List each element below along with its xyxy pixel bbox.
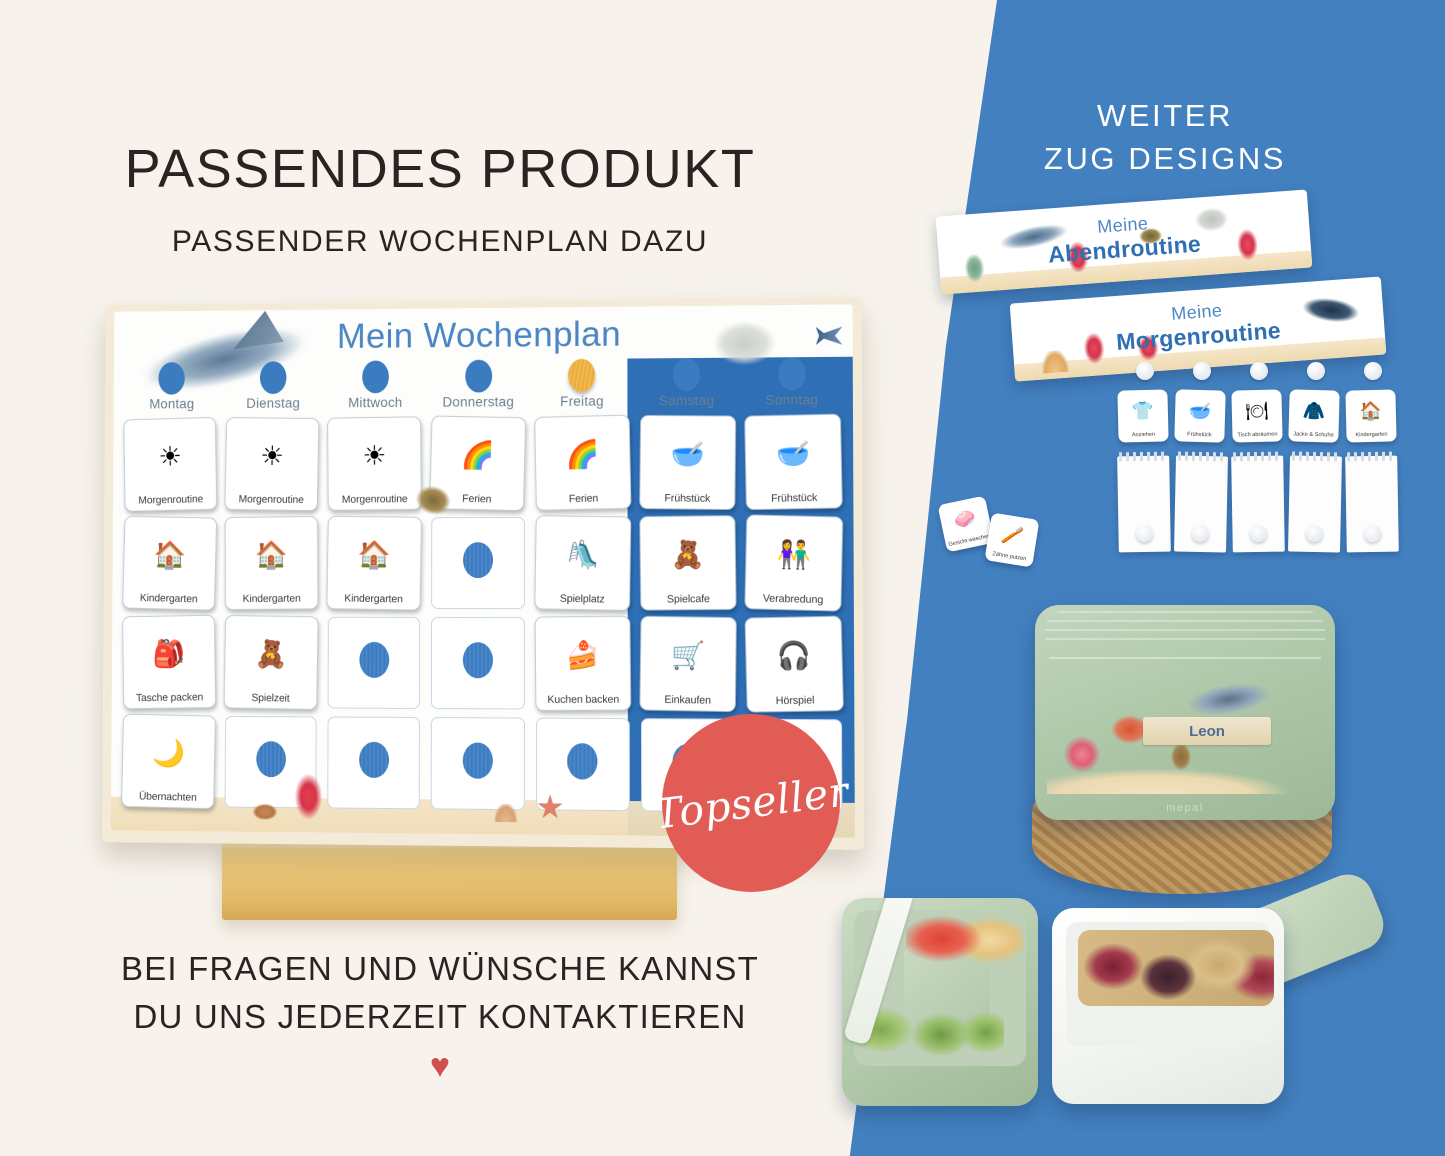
- activity-card[interactable]: 🎧Hörspiel: [744, 616, 844, 713]
- grid-slot[interactable]: 🥣Frühstück: [742, 413, 846, 510]
- day-marker-token[interactable]: [568, 359, 595, 392]
- wooden-stand: [222, 838, 677, 920]
- routine-card-label: Jacke & Schuhe: [1292, 433, 1335, 441]
- day-label: Dienstag: [222, 396, 324, 411]
- activity-card[interactable]: ☀Morgenroutine: [327, 416, 422, 511]
- coral-icon: [1053, 722, 1111, 778]
- playhouse-icon: 🏠: [328, 517, 422, 595]
- grid-slot[interactable]: 🥣Frühstück: [636, 414, 739, 511]
- activity-card[interactable]: 🏠Kindergarten: [225, 516, 319, 610]
- routine-card-label: Kindergarten: [1354, 433, 1388, 440]
- activity-card[interactable]: 🧸Spielzeit: [224, 615, 319, 710]
- activity-card-label: Morgenroutine: [136, 494, 205, 507]
- grid-slot[interactable]: 🌈Ferien: [532, 414, 634, 510]
- spiral-binding: [1347, 452, 1395, 462]
- activity-card[interactable]: 👫Verabredung: [744, 514, 843, 611]
- sun-clothes-icon: ☀: [226, 418, 319, 495]
- day-column-montag: Montag: [121, 362, 222, 414]
- cereal-bowl-icon: 🥣: [640, 416, 735, 494]
- activity-card[interactable]: 🛝Spielplatz: [534, 515, 631, 611]
- lunchbox-brand: mepal: [1035, 802, 1335, 814]
- topseller-label: Topseller: [651, 767, 850, 838]
- activity-card-label: Morgenroutine: [237, 494, 306, 507]
- routine-card-label: Anziehen: [1131, 433, 1156, 440]
- grid-slot[interactable]: 🎒Tasche packen: [119, 614, 218, 709]
- cereal-icon: 🥣: [1188, 390, 1212, 434]
- grid-slot[interactable]: 🏠Kindergarten: [222, 515, 322, 610]
- playhouse-icon: 🏠: [1359, 390, 1382, 434]
- spiral-binding: [1178, 452, 1226, 462]
- footer-contact-text: BEI FRAGEN UND WÜNSCHE KANNST DU UNS JED…: [0, 945, 880, 1041]
- activity-card[interactable]: 🥣Frühstück: [639, 415, 736, 510]
- magnet-dot: [1364, 362, 1382, 380]
- heart-icon: ♥: [0, 1047, 880, 1086]
- swing-icon: 🛝: [535, 516, 630, 595]
- children-icon: 👫: [745, 515, 842, 595]
- day-label: Mittwoch: [324, 395, 427, 411]
- grid-slot[interactable]: 🎧Hörspiel: [742, 615, 846, 713]
- grid-slot[interactable]: [532, 716, 634, 814]
- activity-card[interactable]: 🌙Übernachten: [121, 714, 216, 810]
- empty-slot-dot: [463, 542, 493, 578]
- wash-face-icon: 🧼: [950, 498, 980, 541]
- routine-card-label: Frühstück: [1186, 433, 1213, 440]
- day-marker-dot[interactable]: [362, 360, 389, 393]
- backpack-icon: 🎒: [123, 616, 215, 694]
- day-column-freitag: Freitag: [530, 358, 634, 411]
- routine-card[interactable]: 🥣Frühstück: [1174, 389, 1225, 442]
- day-marker-dot[interactable]: [778, 357, 806, 390]
- bento-container-green: [842, 898, 1038, 1106]
- activity-card[interactable]: 🌈Ferien: [534, 415, 631, 511]
- grid-slot[interactable]: 🧸Spielcafe: [636, 515, 739, 612]
- toothbrush-icon: 🪥: [999, 515, 1027, 557]
- activity-card[interactable]: 🥣Frühstück: [744, 414, 843, 511]
- grid-slot[interactable]: 🍰Kuchen backen: [532, 615, 634, 712]
- empty-slot-dot: [359, 642, 389, 678]
- grid-slot[interactable]: 🧸Spielzeit: [221, 615, 321, 711]
- toys-clock-icon: 🧸: [225, 616, 318, 694]
- playhouse-icon: 🏠: [123, 517, 216, 595]
- board-title: Mein Wochenplan: [114, 312, 853, 358]
- spiral-binding: [1292, 452, 1340, 462]
- routine-card-strip[interactable]: [1345, 456, 1399, 553]
- day-marker-dot[interactable]: [465, 360, 492, 393]
- sleepover-moon-icon: 🌙: [122, 715, 215, 794]
- activity-card-label: Spielzeit: [249, 693, 291, 706]
- magnet-dot: [1250, 362, 1268, 380]
- activity-card-label: Tasche packen: [134, 692, 205, 705]
- activity-card[interactable]: ☀Morgenroutine: [225, 417, 320, 511]
- activity-card-label: Kindergarten: [241, 594, 303, 606]
- grid-slot[interactable]: 🌈Ferien: [428, 415, 529, 511]
- cereal-bowl-icon: 🥣: [745, 415, 842, 494]
- day-column-sonntag: Sonntag: [739, 357, 845, 410]
- activity-card[interactable]: 🍰Kuchen backen: [534, 616, 631, 711]
- grid-slot[interactable]: 🌙Übernachten: [119, 713, 219, 809]
- banner-line2: Abendroutine: [1047, 230, 1202, 268]
- bento-container-white: [1052, 908, 1284, 1104]
- grid-slot[interactable]: 🏠Kindergarten: [120, 516, 219, 611]
- activity-card-label: Spielplatz: [557, 594, 606, 607]
- magnet-dot: [1193, 362, 1211, 380]
- empty-slot-dot: [463, 642, 493, 678]
- day-label: Donnerstag: [427, 394, 530, 410]
- day-label: Samstag: [634, 393, 739, 409]
- activity-card[interactable]: 🧸Spielcafe: [639, 515, 737, 611]
- playhouse-icon: 🏠: [226, 517, 318, 594]
- activity-card-label: Übernachten: [137, 791, 199, 804]
- grid-slot[interactable]: [427, 615, 528, 712]
- activity-card-label: Kuchen backen: [545, 694, 621, 706]
- empty-slot-dot: [463, 742, 493, 778]
- activity-card[interactable]: ☀Morgenroutine: [123, 417, 217, 512]
- loose-card-zaehne-putzen[interactable]: 🪥 Zähne putzen: [985, 513, 1040, 568]
- activity-card[interactable]: 🎒Tasche packen: [122, 615, 216, 710]
- activity-card-label: Morgenroutine: [340, 494, 410, 507]
- jacket-icon: 🧥: [1302, 390, 1326, 434]
- routine-card[interactable]: 🍽Tisch abräumen: [1231, 389, 1282, 442]
- grid-slot[interactable]: [324, 714, 425, 811]
- sun-clothes-icon: ☀: [124, 418, 216, 496]
- granola-berries-food: [1078, 930, 1274, 1006]
- panel-title: WEITER ZUG DESIGNS: [905, 95, 1425, 181]
- grid-slot[interactable]: [428, 515, 529, 611]
- grid-slot[interactable]: ☀Morgenroutine: [325, 416, 425, 512]
- headphones-icon: 🎧: [745, 617, 842, 697]
- activity-card-label: Einkaufen: [662, 695, 713, 708]
- magnet-dot: [1136, 525, 1153, 542]
- magnet-dot: [1192, 525, 1209, 542]
- page-title: PASSENDES PRODUKT: [0, 138, 880, 200]
- activity-card[interactable]: 🌈Ferien: [430, 416, 527, 512]
- apple-slices-food: [906, 912, 1024, 966]
- grid-slot[interactable]: ☀Morgenroutine: [222, 416, 322, 511]
- shopping-cart-icon: 🛒: [640, 617, 736, 696]
- activity-card-label: Ferien: [566, 493, 600, 506]
- rainbow-icon: 🌈: [431, 417, 526, 496]
- activity-card-label: Frühstück: [769, 493, 819, 506]
- day-marker-dot[interactable]: [673, 358, 700, 391]
- day-label: Montag: [121, 396, 222, 411]
- name-banner: Leon: [1143, 717, 1271, 745]
- magnet-dot: [1250, 525, 1267, 542]
- banner-line2: Morgenroutine: [1115, 317, 1281, 356]
- routine-card-strip[interactable]: [1288, 455, 1342, 552]
- page-subtitle: PASSENDER WOCHENPLAN DAZU: [0, 225, 880, 259]
- routine-card-label: Tisch abräumen: [1236, 433, 1278, 441]
- grid-slot[interactable]: [221, 714, 321, 810]
- activity-card-label: Kindergarten: [138, 593, 200, 606]
- day-column-samstag: Samstag: [634, 358, 739, 411]
- day-column-dienstag: Dienstag: [222, 361, 324, 413]
- activity-card[interactable]: 🛒Einkaufen: [639, 616, 737, 713]
- grid-slot[interactable]: ☀Morgenroutine: [121, 417, 220, 512]
- grid-slot[interactable]: 🛝Spielplatz: [532, 515, 634, 612]
- topseller-badge: Topseller: [662, 714, 840, 892]
- lunchbox-lid-line: [1049, 657, 1321, 659]
- day-label: Freitag: [530, 393, 634, 409]
- day-column-mittwoch: Mittwoch: [324, 360, 427, 412]
- lunchbox-lid-ribs: [1045, 611, 1325, 647]
- routine-card-strip[interactable]: [1174, 455, 1228, 552]
- routine-card-strip[interactable]: [1117, 456, 1171, 553]
- sun-clothes-icon: ☀: [328, 417, 421, 495]
- cake-icon: 🍰: [535, 617, 630, 695]
- grid-slot[interactable]: 👫Verabredung: [742, 514, 846, 611]
- magnet-dot: [1306, 525, 1323, 542]
- activity-card-label: Hörspiel: [773, 695, 816, 708]
- spiral-binding: [1119, 452, 1167, 462]
- day-marker-dot[interactable]: [260, 361, 287, 394]
- routine-card[interactable]: 🧥Jacke & Schuhe: [1288, 389, 1339, 442]
- activity-card-label: Ferien: [460, 494, 493, 507]
- day-label: Sonntag: [739, 392, 845, 408]
- plates-icon: 🍽: [1245, 390, 1269, 434]
- grid-slot[interactable]: 🛒Einkaufen: [636, 615, 739, 712]
- empty-slot-dot: [567, 743, 597, 780]
- empty-slot-dot: [359, 742, 389, 778]
- grid-slot[interactable]: [427, 715, 528, 812]
- activity-card[interactable]: 🏠Kindergarten: [327, 516, 423, 611]
- day-column-donnerstag: Donnerstag: [427, 359, 530, 411]
- lunchbox: Leon mepal: [1035, 605, 1335, 820]
- magnet-dot: [1364, 525, 1381, 542]
- activity-card-label: Frühstück: [662, 493, 712, 506]
- clothes-icon: 👕: [1131, 390, 1154, 434]
- rainbow-icon: 🌈: [535, 416, 630, 495]
- grid-slot[interactable]: [324, 615, 425, 711]
- activity-card[interactable]: 🏠Kindergarten: [122, 516, 217, 611]
- day-header-row: MontagDienstagMittwochDonnerstagFreitagS…: [121, 357, 844, 414]
- spiral-binding: [1233, 452, 1281, 462]
- blocks-cup-icon: 🧸: [640, 516, 735, 595]
- grid-slot[interactable]: 🏠Kindergarten: [324, 515, 424, 611]
- routine-card[interactable]: 🏠Kindergarten: [1345, 389, 1396, 442]
- routine-card-strip[interactable]: [1231, 456, 1285, 553]
- activity-card-label: Kindergarten: [343, 593, 406, 606]
- magnet-dot: [1136, 362, 1154, 380]
- day-marker-dot[interactable]: [159, 362, 185, 395]
- routine-card[interactable]: 👕Anziehen: [1117, 389, 1168, 442]
- magnet-dot: [1307, 362, 1325, 380]
- activity-card-label: Verabredung: [761, 593, 826, 607]
- lunchbox-name: Leon: [1189, 723, 1225, 740]
- activity-card-label: Spielcafe: [665, 594, 712, 607]
- empty-slot-dot: [256, 741, 286, 777]
